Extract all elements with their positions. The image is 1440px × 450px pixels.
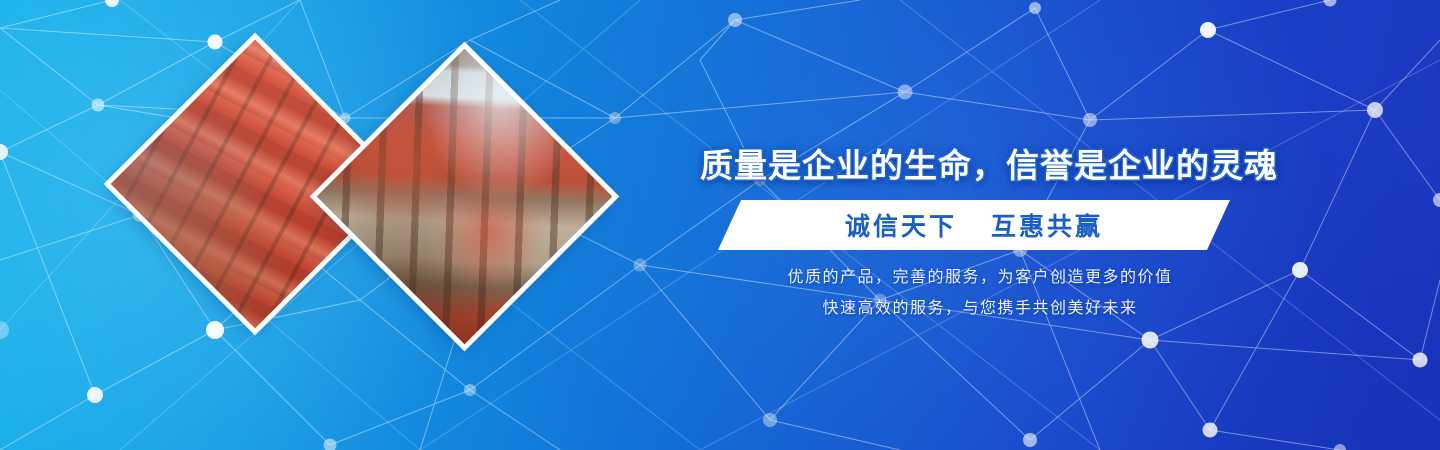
slogan-ribbon: 诚信天下 互惠共赢 — [718, 200, 1230, 250]
banner-subtitles: 优质的产品，完善的服务，为客户创造更多的价值 快速高效的服务，与您携手共创美好未… — [700, 262, 1260, 324]
slogan-right: 互惠共赢 — [991, 207, 1103, 243]
slogan-ribbon-text: 诚信天下 互惠共赢 — [718, 200, 1230, 250]
banner-headline: 质量是企业的生命，信誉是企业的灵魂 — [700, 139, 1260, 187]
banner-copy-block: 质量是企业的生命，信誉是企业的灵魂 诚信天下 互惠共赢 优质的产品，完善的服务，… — [700, 0, 1300, 450]
banner-subtitle-line-2: 快速高效的服务，与您携手共创美好未来 — [700, 293, 1260, 324]
promo-banner: 质量是企业的生命，信誉是企业的灵魂 诚信天下 互惠共赢 优质的产品，完善的服务，… — [0, 0, 1440, 450]
banner-subtitle-line-1: 优质的产品，完善的服务，为客户创造更多的价值 — [700, 262, 1260, 293]
slogan-left: 诚信天下 — [845, 207, 957, 243]
